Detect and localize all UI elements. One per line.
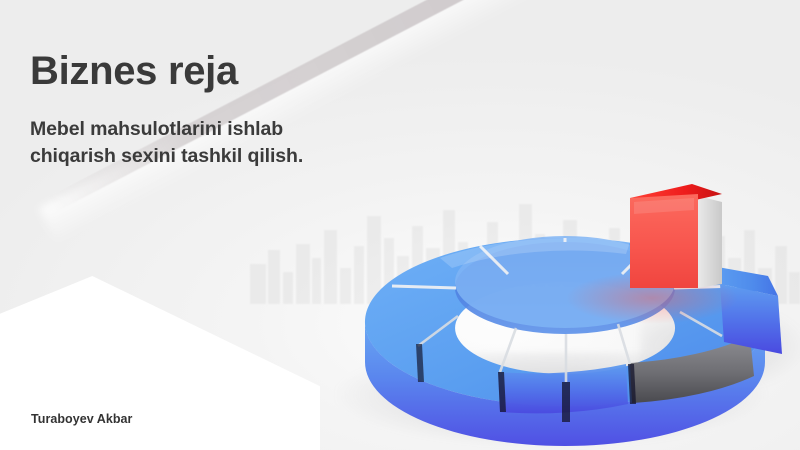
chart-3d-donut <box>330 176 800 446</box>
page-title: Biznes reja <box>30 50 450 92</box>
subtitle-line-2: chiqarish sexini tashkil qilish. <box>30 143 450 170</box>
title-block: Biznes reja Mebel mahsulotlarini ishlab … <box>30 50 450 169</box>
author-name: Turaboyev Akbar <box>31 412 132 426</box>
subtitle-line-1: Mebel mahsulotlarini ishlab <box>30 118 283 140</box>
slide-subtitle: Mebel mahsulotlarini ishlab chiqarish se… <box>30 116 450 169</box>
presentation-slide: Biznes reja Mebel mahsulotlarini ishlab … <box>0 0 800 450</box>
